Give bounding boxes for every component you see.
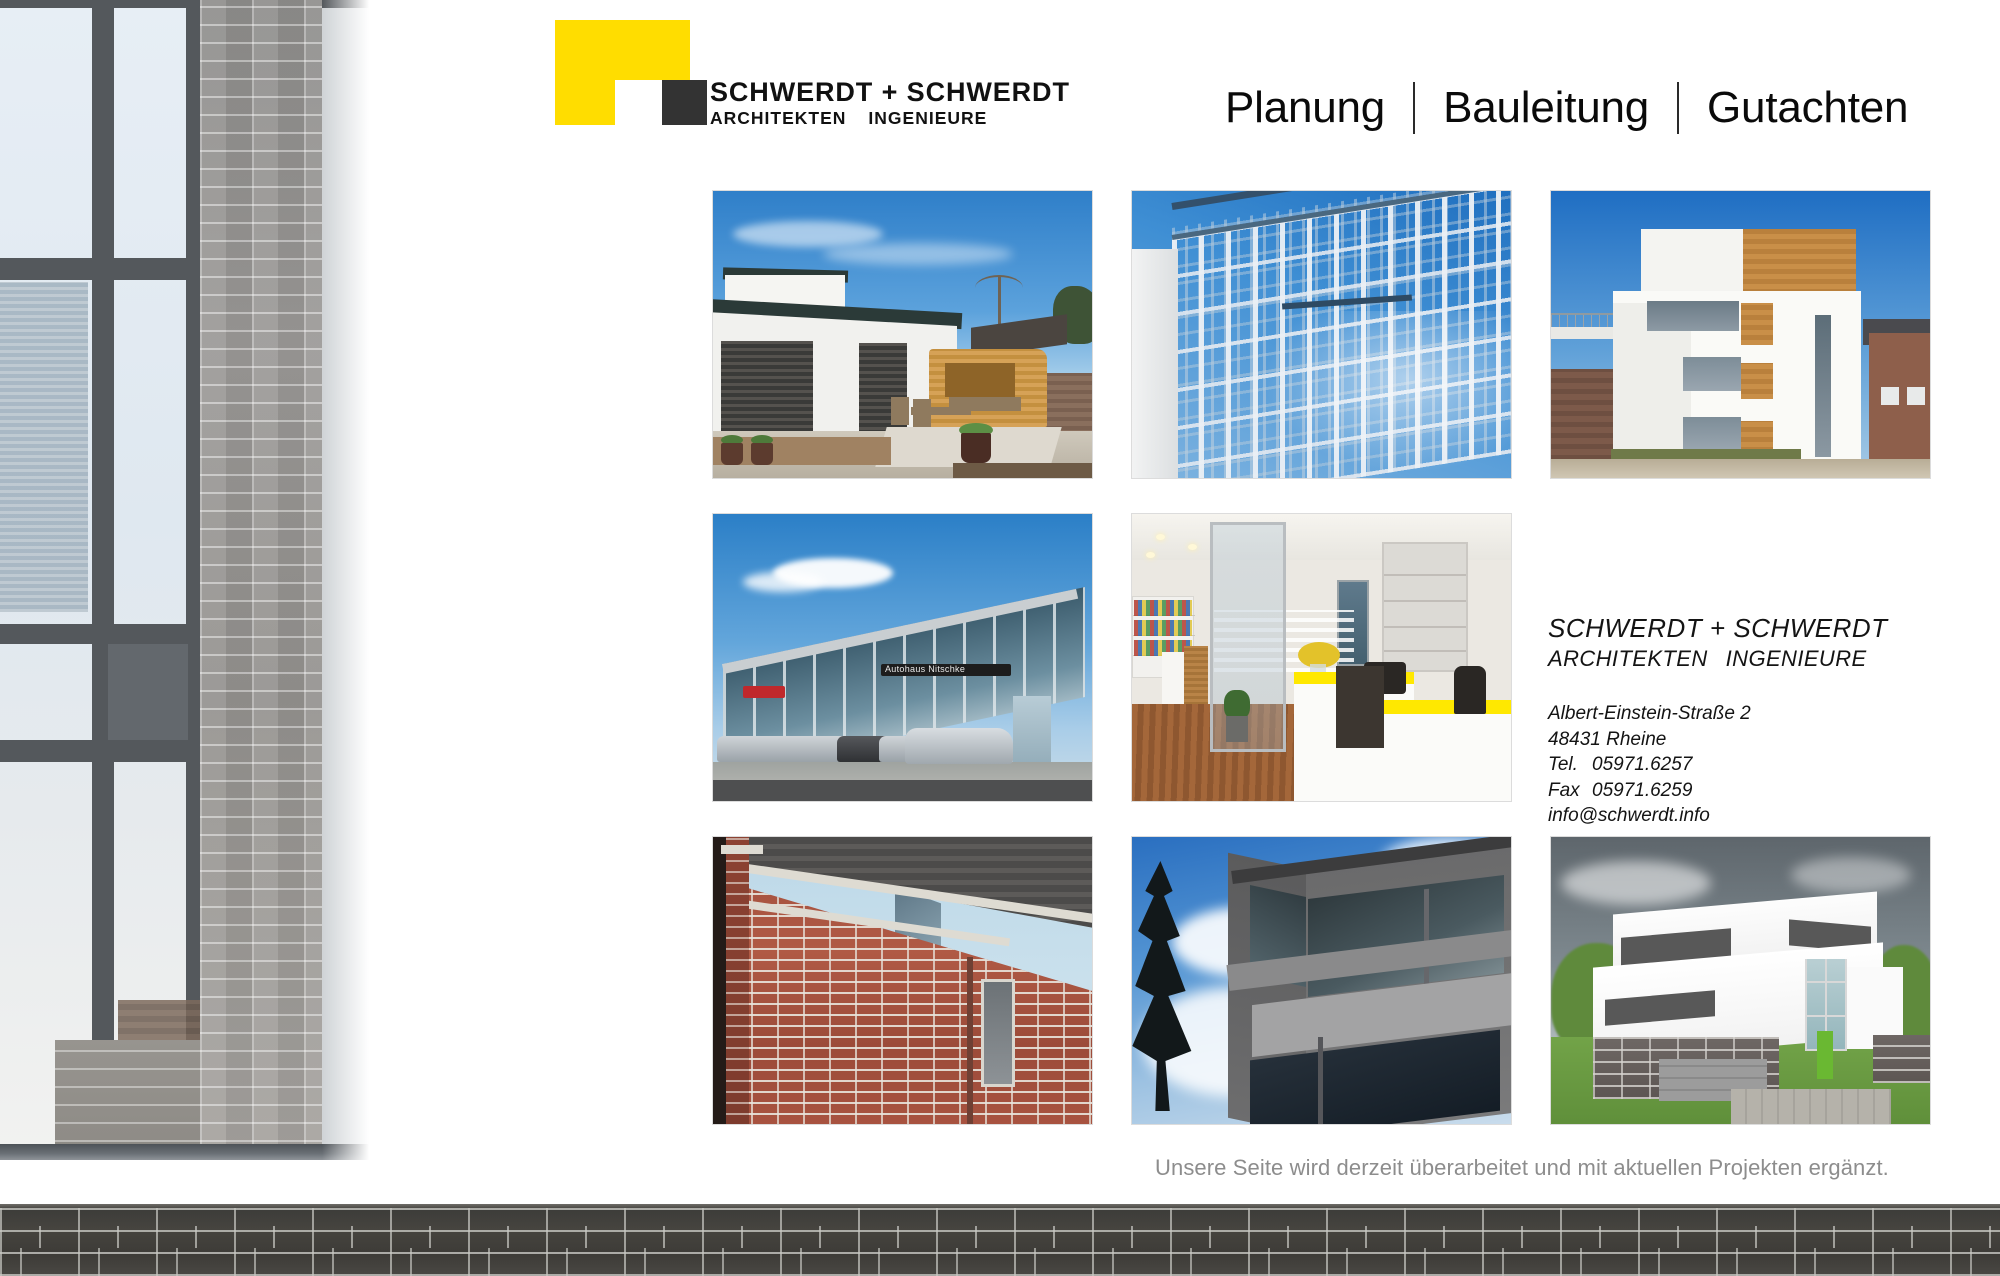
photo-fade-edge — [322, 0, 398, 1160]
main-navigation: Planung Bauleitung Gutachten — [1225, 82, 1908, 134]
nav-separator-1 — [1413, 82, 1415, 134]
contact-street: Albert-Einstein-Straße 2 — [1548, 701, 1888, 726]
nav-item-gutachten[interactable]: Gutachten — [1707, 83, 1908, 133]
window-blind — [0, 282, 88, 612]
contact-fax-value: 05971.6259 — [1592, 780, 1692, 801]
contact-disciplines: ARCHITEKTENINGENIEURE — [1548, 645, 1888, 673]
photo-apartment-building — [1551, 191, 1930, 478]
site-notice: Unsere Seite wird derzeit überarbeitet u… — [1155, 1155, 1889, 1181]
contact-phone-row: Tel.05971.6257 — [1548, 752, 1888, 777]
gallery-item-office-reception[interactable] — [1131, 513, 1512, 802]
window-transom-1 — [0, 258, 206, 280]
logo-dark-square — [662, 80, 707, 125]
brand-logo-mark[interactable] — [555, 20, 690, 125]
photo-brick-gable — [713, 837, 1092, 1124]
bottom-brick-wall — [0, 1204, 2000, 1276]
photo-dark-villa — [1132, 837, 1511, 1124]
photo-car-dealership: Autohaus Nitschke — [713, 514, 1092, 801]
window-transom-2 — [0, 624, 206, 644]
logo-white-square — [615, 80, 662, 125]
contact-block: SCHWERDT + SCHWERDT ARCHITEKTENINGENIEUR… — [1548, 612, 1888, 829]
nav-separator-2 — [1677, 82, 1679, 134]
brand-logo-text: SCHWERDT + SCHWERDT ARCHITEKTENINGENIEUR… — [710, 78, 1070, 128]
contact-company-name: SCHWERDT + SCHWERDT — [1548, 612, 1888, 645]
photo-fade-bottom — [0, 1000, 398, 1160]
page-root: SCHWERDT + SCHWERDT ARCHITEKTENINGENIEUR… — [0, 0, 2000, 1276]
brand-discipline-architekten: ARCHITEKTEN — [710, 108, 846, 128]
contact-fax-row: Fax05971.6259 — [1548, 778, 1888, 803]
photo-3d-render-house — [1551, 837, 1930, 1124]
contact-email[interactable]: info@schwerdt.info — [1548, 803, 1888, 828]
nav-item-bauleitung[interactable]: Bauleitung — [1443, 83, 1649, 133]
contact-discipline-architekten: ARCHITEKTEN — [1548, 646, 1708, 671]
brand-disciplines: ARCHITEKTENINGENIEURE — [710, 109, 1070, 127]
contact-fax-label: Fax — [1548, 778, 1592, 803]
contact-city: 48431 Rheine — [1548, 727, 1888, 752]
gallery-item-car-dealership[interactable]: Autohaus Nitschke — [712, 513, 1093, 802]
contact-discipline-ingenieure: INGENIEURE — [1726, 646, 1867, 671]
gallery-item-steel-frame[interactable] — [1131, 190, 1512, 479]
background-photo-building-facade — [0, 0, 398, 1160]
contact-phone-label: Tel. — [1548, 752, 1592, 777]
bottom-brick-coping — [0, 1204, 2000, 1208]
brand-name: SCHWERDT + SCHWERDT — [710, 78, 1070, 106]
brand-discipline-ingenieure: INGENIEURE — [868, 108, 987, 128]
gallery-item-dark-villa[interactable] — [1131, 836, 1512, 1125]
gallery-item-apartment-building[interactable] — [1550, 190, 1931, 479]
contact-address-details: Albert-Einstein-Straße 2 48431 Rheine Te… — [1548, 701, 1888, 828]
photo-office-reception — [1132, 514, 1511, 801]
photo-steel-frame — [1132, 191, 1511, 478]
nav-item-planung[interactable]: Planung — [1225, 83, 1385, 133]
window-panel-solid — [108, 644, 188, 740]
window-mullion-vertical-1 — [92, 0, 114, 1160]
gallery-item-3d-render[interactable] — [1550, 836, 1931, 1125]
dealership-sign-text: Autohaus Nitschke — [885, 664, 965, 674]
photo-flat-roof-house — [713, 191, 1092, 478]
window-transom-3 — [0, 740, 206, 762]
gallery-item-brick-gable[interactable] — [712, 836, 1093, 1125]
brick-pier — [200, 0, 322, 1160]
gallery-item-flat-roof-house[interactable] — [712, 190, 1093, 479]
contact-phone-value[interactable]: 05971.6257 — [1592, 754, 1692, 775]
